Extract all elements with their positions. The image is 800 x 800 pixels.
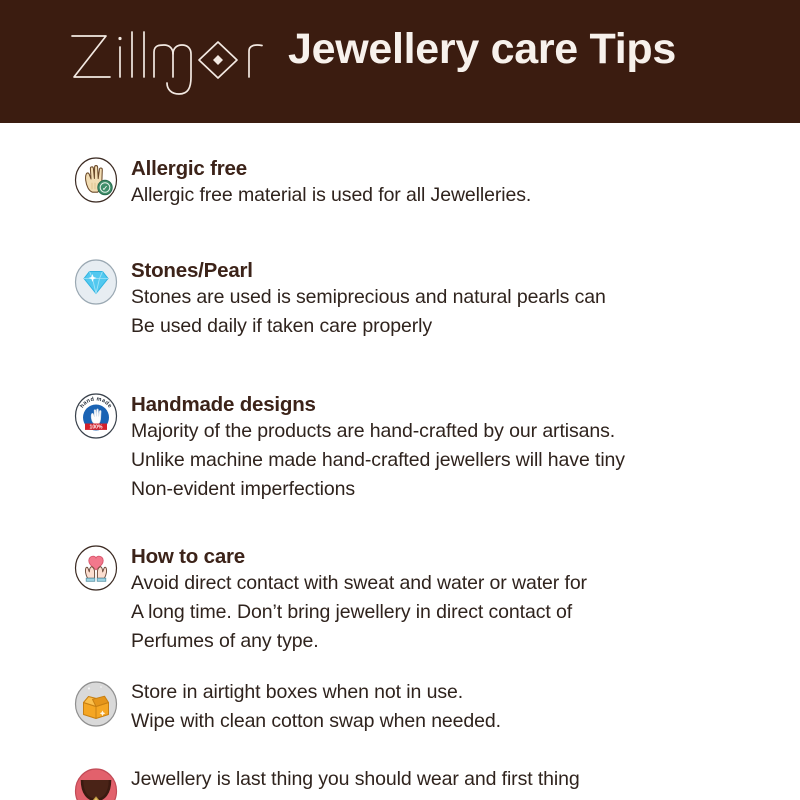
tip-line: Majority of the products are hand-crafte…	[131, 417, 781, 446]
brand-logo	[66, 14, 276, 100]
tip-line: Wipe with clean cotton swap when needed.	[131, 707, 781, 736]
tip-heading: How to care	[131, 544, 781, 569]
tip-heading: Handmade designs	[131, 392, 781, 417]
tip-line: Be used daily if taken care properly	[131, 312, 781, 341]
page-title: Jewellery care Tips	[288, 23, 676, 75]
tip-content: Store in airtight boxes when not in use.…	[131, 678, 781, 736]
tip-line: Unlike machine made hand-crafted jewelle…	[131, 446, 781, 475]
tip-description: Stones are used is semiprecious and natu…	[131, 283, 781, 341]
tip-line: Stones are used is semiprecious and natu…	[131, 283, 781, 312]
necklace-jewellery-icon	[74, 767, 118, 800]
tip-line: A long time. Don’t bring jewellery in di…	[131, 598, 781, 627]
open-storage-box-icon	[74, 680, 118, 728]
heart-in-hands-icon	[74, 544, 118, 592]
tip-line: Allergic free material is used for all J…	[131, 181, 781, 210]
tip-description: Store in airtight boxes when not in use.…	[131, 678, 781, 736]
tip-content: Allergic free Allergic free material is …	[131, 156, 781, 210]
jewellery-care-tips-infographic: Jewellery care Tips ✓ Allergic free Alle…	[0, 0, 800, 800]
svg-text:✓: ✓	[102, 186, 108, 193]
tip-description: Jewellery is last thing you should wear …	[131, 765, 781, 794]
hand-made-100-percent-badge-icon: hand made 100%	[74, 392, 118, 440]
allergy-free-hand-icon: ✓	[74, 156, 118, 204]
tip-description: Allergic free material is used for all J…	[131, 181, 781, 210]
tip-line: Non-evident imperfections	[131, 475, 781, 504]
tip-content: Jewellery is last thing you should wear …	[131, 765, 781, 794]
tip-line: Jewellery is last thing you should wear …	[131, 765, 781, 794]
tip-content: How to care Avoid direct contact with sw…	[131, 544, 781, 656]
tip-content: Stones/Pearl Stones are used is semiprec…	[131, 258, 781, 341]
diamond-gemstone-icon	[74, 258, 118, 306]
tip-line: Perfumes of any type.	[131, 627, 781, 656]
header-banner: Jewellery care Tips	[0, 0, 800, 123]
tip-heading: Allergic free	[131, 156, 781, 181]
tip-line: Avoid direct contact with sweat and wate…	[131, 569, 781, 598]
svg-text:100%: 100%	[89, 424, 102, 430]
tip-description: Avoid direct contact with sweat and wate…	[131, 569, 781, 656]
tip-content: Handmade designs Majority of the product…	[131, 392, 781, 504]
tip-description: Majority of the products are hand-crafte…	[131, 417, 781, 504]
tip-heading: Stones/Pearl	[131, 258, 781, 283]
tip-line: Store in airtight boxes when not in use.	[131, 678, 781, 707]
